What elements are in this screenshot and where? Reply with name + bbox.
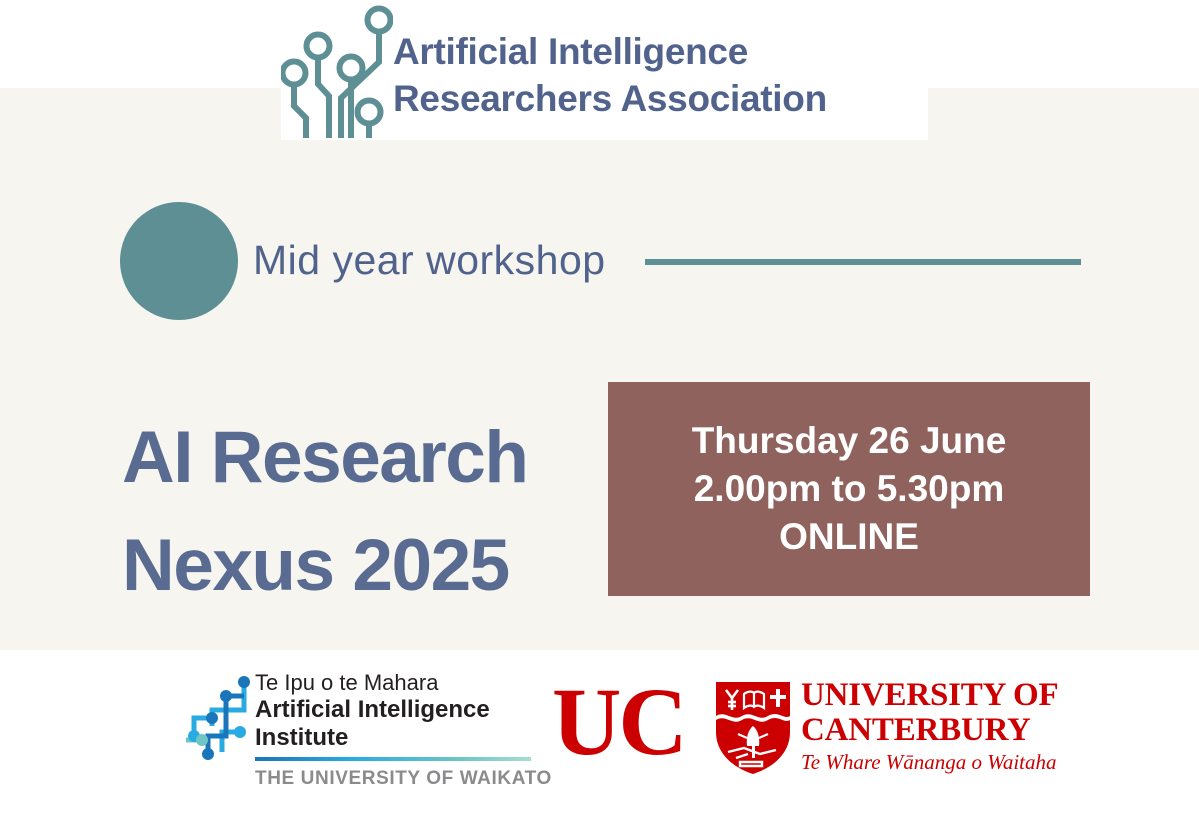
page-title: AI Research Nexus 2025 — [122, 404, 622, 620]
canterbury-wordmark: UNIVERSITY OF CANTERBURY Te Whare Wānang… — [801, 678, 1051, 774]
waikato-line1: Te Ipu o te Mahara — [255, 670, 532, 696]
page-title-line1: AI Research — [122, 417, 528, 498]
workshop-label: Mid year workshop — [253, 234, 606, 286]
waikato-line3: Institute — [255, 724, 532, 752]
waikato-wordmark: Te Ipu o te Mahara Artificial Intelligen… — [255, 670, 532, 790]
event-location: ONLINE — [779, 513, 919, 561]
teal-circle-icon — [120, 202, 238, 320]
canterbury-line3: Te Whare Wānanga o Waitaha — [801, 750, 1051, 774]
gradient-divider-icon — [255, 757, 531, 761]
aira-logo-block: Artificial Intelligence Researchers Asso… — [281, 0, 928, 140]
canterbury-line2: CANTERBURY — [801, 713, 1051, 748]
canterbury-monogram: UC — [552, 674, 685, 770]
event-time: 2.00pm to 5.30pm — [694, 465, 1005, 513]
org-name-line2: Researchers Association — [393, 75, 928, 122]
canterbury-line1: UNIVERSITY OF — [801, 678, 1051, 713]
event-date: Thursday 26 June — [692, 417, 1007, 465]
waikato-logo-block: Te Ipu o te Mahara Artificial Intelligen… — [182, 670, 532, 782]
org-name-line1: Artificial Intelligence — [393, 31, 748, 72]
horizontal-rule-icon — [645, 259, 1081, 265]
waikato-line4: THE UNIVERSITY OF WAIKATO — [255, 768, 532, 790]
org-name: Artificial Intelligence Researchers Asso… — [393, 28, 928, 122]
waikato-line2: Artificial Intelligence — [255, 696, 532, 724]
waikato-circuit-icon — [182, 674, 254, 764]
canterbury-logo-block: UC — [552, 678, 1047, 782]
page-title-line2: Nexus 2025 — [122, 512, 622, 620]
event-details-box: Thursday 26 June 2.00pm to 5.30pm ONLINE — [608, 382, 1090, 596]
canterbury-shield-icon — [714, 680, 792, 776]
poster-canvas: Artificial Intelligence Researchers Asso… — [0, 0, 1199, 820]
circuit-nodes-icon — [281, 2, 393, 138]
